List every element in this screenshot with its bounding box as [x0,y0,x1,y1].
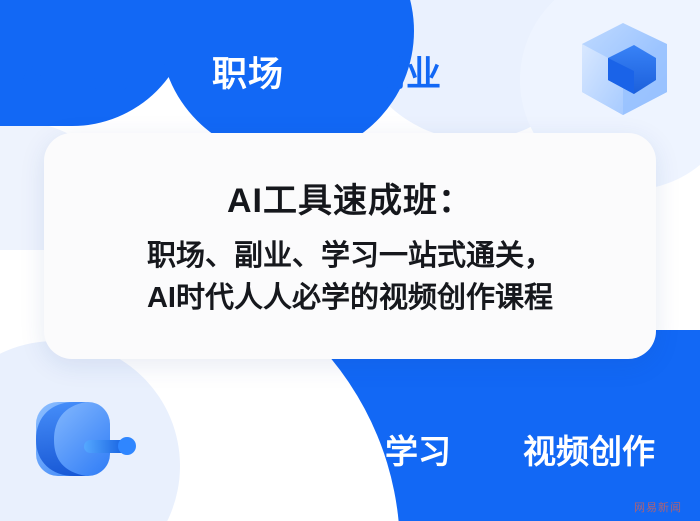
watermark: 网易新闻 [634,499,682,515]
tag-workplace: 职场 [212,46,284,97]
top-tag-row: AI工具 职场 副业 [0,44,700,98]
tag-ai-tools: AI工具 [20,46,129,97]
tag-side-hustle-bottom: 副业 [218,425,284,473]
tag-study: 学习 [385,425,451,473]
tag-video-creation: 视频创作 [523,425,655,473]
headline-card: AI工具速成班： 职场、副业、学习一站式通关， AI时代人人必学的视频创作课程 [44,133,656,359]
bottom-tag-row: 副业 学习 视频创作 [0,425,700,479]
subtitle-line-1: 职场、副业、学习一站式通关， [147,236,553,277]
poster-image: AI工具 职场 副业 AI工具速成班： 职场、副业、学习一站式通关， AI时代人… [0,0,700,521]
subtitle-line-2: AI时代人人必学的视频创作课程 [147,278,553,319]
tag-side-hustle: 副业 [370,46,442,97]
page-title: AI工具速成班： [227,173,473,222]
